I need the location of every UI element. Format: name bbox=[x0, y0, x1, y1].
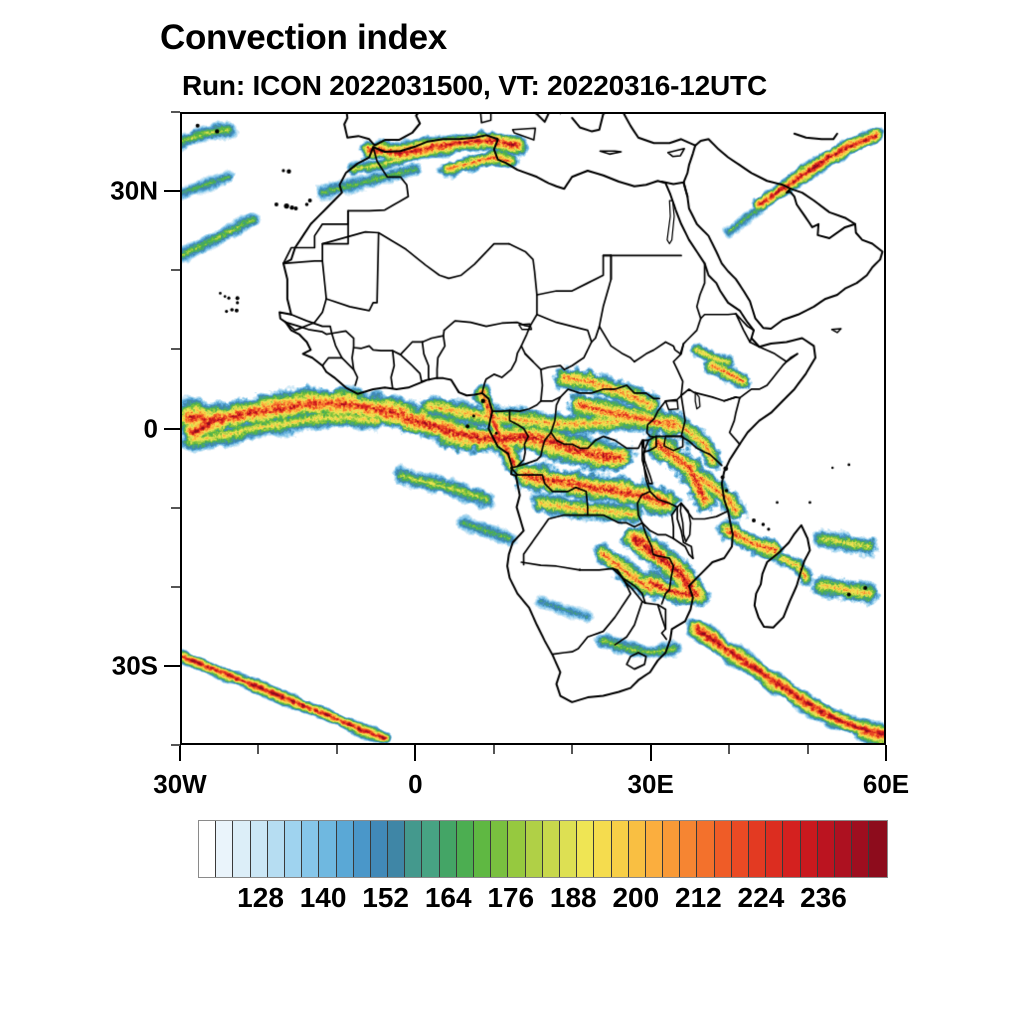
x-major-tick bbox=[885, 745, 887, 761]
x-minor-tick bbox=[807, 745, 809, 754]
colorbar-cell bbox=[852, 821, 869, 877]
colorbar-tick-label: 128 bbox=[237, 882, 284, 914]
colorbar-cell bbox=[491, 821, 508, 877]
colorbar-tick-label: 164 bbox=[425, 882, 472, 914]
colorbar-cell bbox=[457, 821, 474, 877]
y-minor-tick bbox=[171, 507, 180, 509]
colorbar-cell bbox=[371, 821, 388, 877]
x-major-tick bbox=[650, 745, 652, 761]
colorbar-tick-label: 176 bbox=[487, 882, 534, 914]
colorbar-cell bbox=[302, 821, 319, 877]
colorbar-cell bbox=[663, 821, 680, 877]
colorbar-cell bbox=[869, 821, 886, 877]
colorbar-cell bbox=[818, 821, 835, 877]
colorbar-cell bbox=[526, 821, 543, 877]
figure-title: Convection index bbox=[160, 18, 447, 58]
colorbar-cell bbox=[801, 821, 818, 877]
colorbar-cell bbox=[354, 821, 371, 877]
x-axis-label: 0 bbox=[408, 769, 422, 800]
colorbar bbox=[198, 820, 888, 878]
y-minor-tick bbox=[171, 744, 180, 746]
colorbar-cell bbox=[646, 821, 663, 877]
colorbar-cell bbox=[594, 821, 611, 877]
colorbar-tick-label: 200 bbox=[612, 882, 659, 914]
colorbar-tick-label: 236 bbox=[800, 882, 847, 914]
colorbar-cell bbox=[268, 821, 285, 877]
colorbar-cell bbox=[697, 821, 714, 877]
colorbar-cell bbox=[680, 821, 697, 877]
colorbar-cell bbox=[715, 821, 732, 877]
colorbar-cell bbox=[388, 821, 405, 877]
y-axis-label: 30N bbox=[110, 176, 158, 207]
colorbar-cell bbox=[560, 821, 577, 877]
colorbar-cell bbox=[233, 821, 250, 877]
colorbar-tick-label: 212 bbox=[675, 882, 722, 914]
colorbar-cell bbox=[543, 821, 560, 877]
colorbar-cell bbox=[405, 821, 422, 877]
colorbar-cell bbox=[422, 821, 439, 877]
y-major-tick bbox=[164, 665, 180, 667]
y-minor-tick bbox=[171, 269, 180, 271]
colorbar-cell bbox=[732, 821, 749, 877]
x-major-tick bbox=[179, 745, 181, 761]
colorbar-tick-label: 188 bbox=[550, 882, 597, 914]
y-major-tick bbox=[164, 428, 180, 430]
x-minor-tick bbox=[336, 745, 338, 754]
colorbar-cell bbox=[766, 821, 783, 877]
colorbar-cell bbox=[474, 821, 491, 877]
colorbar-cell bbox=[749, 821, 766, 877]
x-major-tick bbox=[414, 745, 416, 761]
colorbar-tick-label: 224 bbox=[738, 882, 785, 914]
colorbar-cell bbox=[629, 821, 646, 877]
colorbar-tick-label: 140 bbox=[300, 882, 347, 914]
y-axis-label: 30S bbox=[112, 650, 158, 681]
x-minor-tick bbox=[571, 745, 573, 754]
y-minor-tick bbox=[171, 348, 180, 350]
colorbar-cell bbox=[612, 821, 629, 877]
colorbar-cell bbox=[835, 821, 852, 877]
colorbar-cell bbox=[216, 821, 233, 877]
colorbar-cell bbox=[285, 821, 302, 877]
colorbar-tick-label: 152 bbox=[362, 882, 409, 914]
colorbar-cell bbox=[319, 821, 336, 877]
x-minor-tick bbox=[728, 745, 730, 754]
x-axis-label: 30W bbox=[153, 769, 206, 800]
x-minor-tick bbox=[257, 745, 259, 754]
colorbar-cell bbox=[783, 821, 800, 877]
colorbar-cell bbox=[199, 821, 216, 877]
colorbar-cell bbox=[251, 821, 268, 877]
figure-subtitle: Run: ICON 2022031500, VT: 20220316-12UTC bbox=[182, 70, 767, 102]
figure: Convection index Run: ICON 2022031500, V… bbox=[0, 0, 1024, 1024]
y-minor-tick bbox=[171, 111, 180, 113]
x-axis-label: 30E bbox=[628, 769, 674, 800]
y-minor-tick bbox=[171, 586, 180, 588]
colorbar-cell bbox=[577, 821, 594, 877]
x-axis-label: 60E bbox=[863, 769, 909, 800]
colorbar-cell bbox=[337, 821, 354, 877]
x-minor-tick bbox=[493, 745, 495, 754]
map-plot-area bbox=[180, 112, 886, 745]
y-major-tick bbox=[164, 190, 180, 192]
colorbar-cell bbox=[440, 821, 457, 877]
convection-index-raster bbox=[182, 114, 884, 743]
colorbar-cell bbox=[508, 821, 525, 877]
y-axis-label: 0 bbox=[144, 413, 158, 444]
